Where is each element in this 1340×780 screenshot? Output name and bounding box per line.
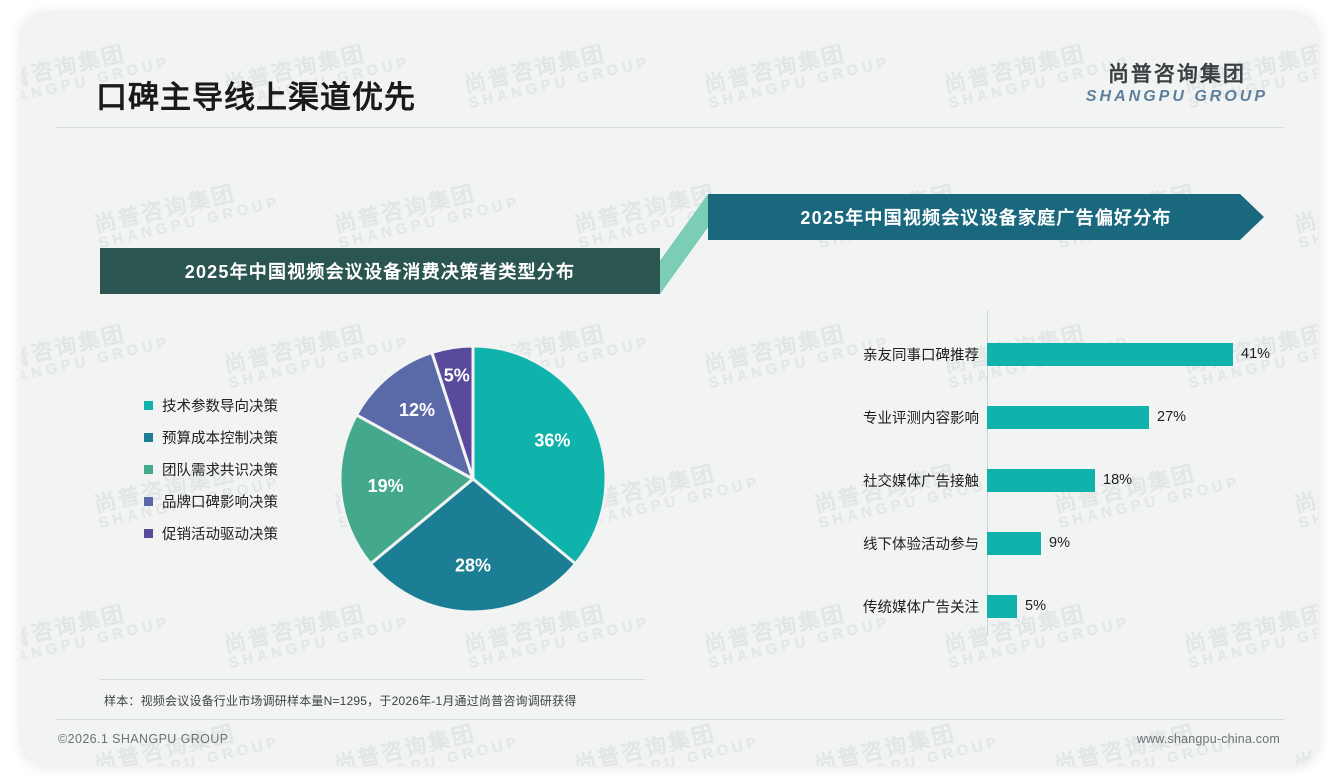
pie-chart-block: 技术参数导向决策预算成本控制决策团队需求共识决策品牌口碑影响决策促销活动驱动决策…: [82, 314, 682, 664]
legend-item-label: 团队需求共识决策: [162, 459, 278, 480]
pie-slice-label: 36%: [534, 430, 570, 450]
footer-copyright: ©2026.1 SHANGPU GROUP: [58, 732, 228, 746]
header-divider: [56, 127, 1284, 128]
legend-swatch-icon: [144, 433, 153, 442]
banner-right-title: 2025年中国视频会议设备家庭广告偏好分布: [800, 204, 1171, 230]
bar-value-label: 41%: [1241, 346, 1270, 362]
bar-chart-row[interactable]: 传统媒体广告关注5%: [782, 593, 1282, 619]
pie-legend: 技术参数导向决策预算成本控制决策团队需求共识决策品牌口碑影响决策促销活动驱动决策: [144, 396, 334, 556]
logo-cn-text: 尚普咨询集团: [1086, 62, 1268, 87]
bar-track: 27%: [987, 406, 1282, 429]
legend-item[interactable]: 品牌口碑影响决策: [144, 492, 334, 510]
bar-value-label: 18%: [1103, 472, 1132, 488]
bar-category-label: 专业评测内容影响: [782, 407, 987, 428]
legend-swatch-icon: [144, 529, 153, 538]
pie-slice-label: 28%: [455, 556, 491, 576]
bar-chart-row[interactable]: 线下体验活动参与9%: [782, 530, 1282, 556]
bar-track: 18%: [987, 469, 1282, 492]
pie-slice-label: 5%: [444, 365, 470, 385]
bar-fill[interactable]: [987, 532, 1041, 555]
legend-item[interactable]: 预算成本控制决策: [144, 428, 334, 446]
legend-item[interactable]: 团队需求共识决策: [144, 460, 334, 478]
watermark-text: 尚普咨询集团SHANGPU GROUP: [332, 172, 522, 252]
watermark-text: 尚普咨询集团SHANGPU GROUP: [1292, 712, 1318, 766]
legend-item-label: 技术参数导向决策: [162, 395, 278, 416]
legend-item-label: 品牌口碑影响决策: [162, 491, 278, 512]
footnote-text: 样本：视频会议设备行业市场调研样本量N=1295，于2026年-1月通过尚普咨询…: [104, 692, 577, 709]
watermark-text: 尚普咨询集团SHANGPU GROUP: [1292, 172, 1318, 252]
watermark-text: 尚普咨询集团SHANGPU GROUP: [332, 712, 522, 766]
legend-item-label: 预算成本控制决策: [162, 427, 278, 448]
pie-chart-svg: 36%28%19%12%5%: [338, 344, 608, 614]
bar-track: 5%: [987, 595, 1282, 618]
bar-chart-block: 亲友同事口碑推荐41%专业评测内容影响27%社交媒体广告接触18%线下体验活动参…: [782, 310, 1282, 660]
bar-chart-row[interactable]: 亲友同事口碑推荐41%: [782, 341, 1282, 367]
watermark-text: 尚普咨询集团SHANGPU GROUP: [92, 172, 282, 252]
legend-item-label: 促销活动驱动决策: [162, 523, 278, 544]
watermark-text: 尚普咨询集团SHANGPU GROUP: [1292, 452, 1318, 532]
banner-left-title: 2025年中国视频会议设备消费决策者类型分布: [185, 258, 575, 284]
bar-fill[interactable]: [987, 406, 1149, 429]
bar-fill[interactable]: [987, 343, 1233, 366]
bar-category-label: 社交媒体广告接触: [782, 470, 987, 491]
bar-chart-row[interactable]: 社交媒体广告接触18%: [782, 467, 1282, 493]
pie-slice-label: 12%: [399, 400, 435, 420]
footnote-divider-top: [100, 679, 645, 680]
page-title: 口碑主导线上渠道优先: [96, 72, 416, 117]
pie-slice-label: 19%: [368, 476, 404, 496]
slide-canvas: 尚普咨询集团SHANGPU GROUP尚普咨询集团SHANGPU GROUP尚普…: [22, 14, 1318, 766]
bar-fill[interactable]: [987, 595, 1017, 618]
bar-chart-row[interactable]: 专业评测内容影响27%: [782, 404, 1282, 430]
bar-category-label: 亲友同事口碑推荐: [782, 344, 987, 365]
banner-right: 2025年中国视频会议设备家庭广告偏好分布: [708, 194, 1264, 240]
bar-category-label: 线下体验活动参与: [782, 533, 987, 554]
bar-value-label: 9%: [1049, 535, 1070, 551]
slide-header: 口碑主导线上渠道优先 尚普咨询集团 SHANGPU GROUP: [22, 14, 1318, 126]
banner-left: 2025年中国视频会议设备消费决策者类型分布: [100, 248, 660, 294]
bar-category-label: 传统媒体广告关注: [782, 596, 987, 617]
watermark-text: 尚普咨询集团SHANGPU GROUP: [572, 712, 762, 766]
logo-en-text: SHANGPU GROUP: [1086, 87, 1268, 108]
legend-item[interactable]: 技术参数导向决策: [144, 396, 334, 414]
legend-swatch-icon: [144, 497, 153, 506]
watermark-text: 尚普咨询集团SHANGPU GROUP: [812, 712, 1002, 766]
legend-item[interactable]: 促销活动驱动决策: [144, 524, 334, 542]
bar-track: 9%: [987, 532, 1282, 555]
footer-divider: [56, 719, 1284, 720]
bar-value-label: 27%: [1157, 409, 1186, 425]
legend-swatch-icon: [144, 401, 153, 410]
footer-website[interactable]: www.shangpu-china.com: [1137, 732, 1280, 746]
legend-swatch-icon: [144, 465, 153, 474]
bar-track: 41%: [987, 343, 1282, 366]
bar-fill[interactable]: [987, 469, 1095, 492]
brand-logo: 尚普咨询集团 SHANGPU GROUP: [1086, 62, 1268, 108]
bar-value-label: 5%: [1025, 598, 1046, 614]
pie-chart: 36%28%19%12%5%: [338, 344, 608, 614]
